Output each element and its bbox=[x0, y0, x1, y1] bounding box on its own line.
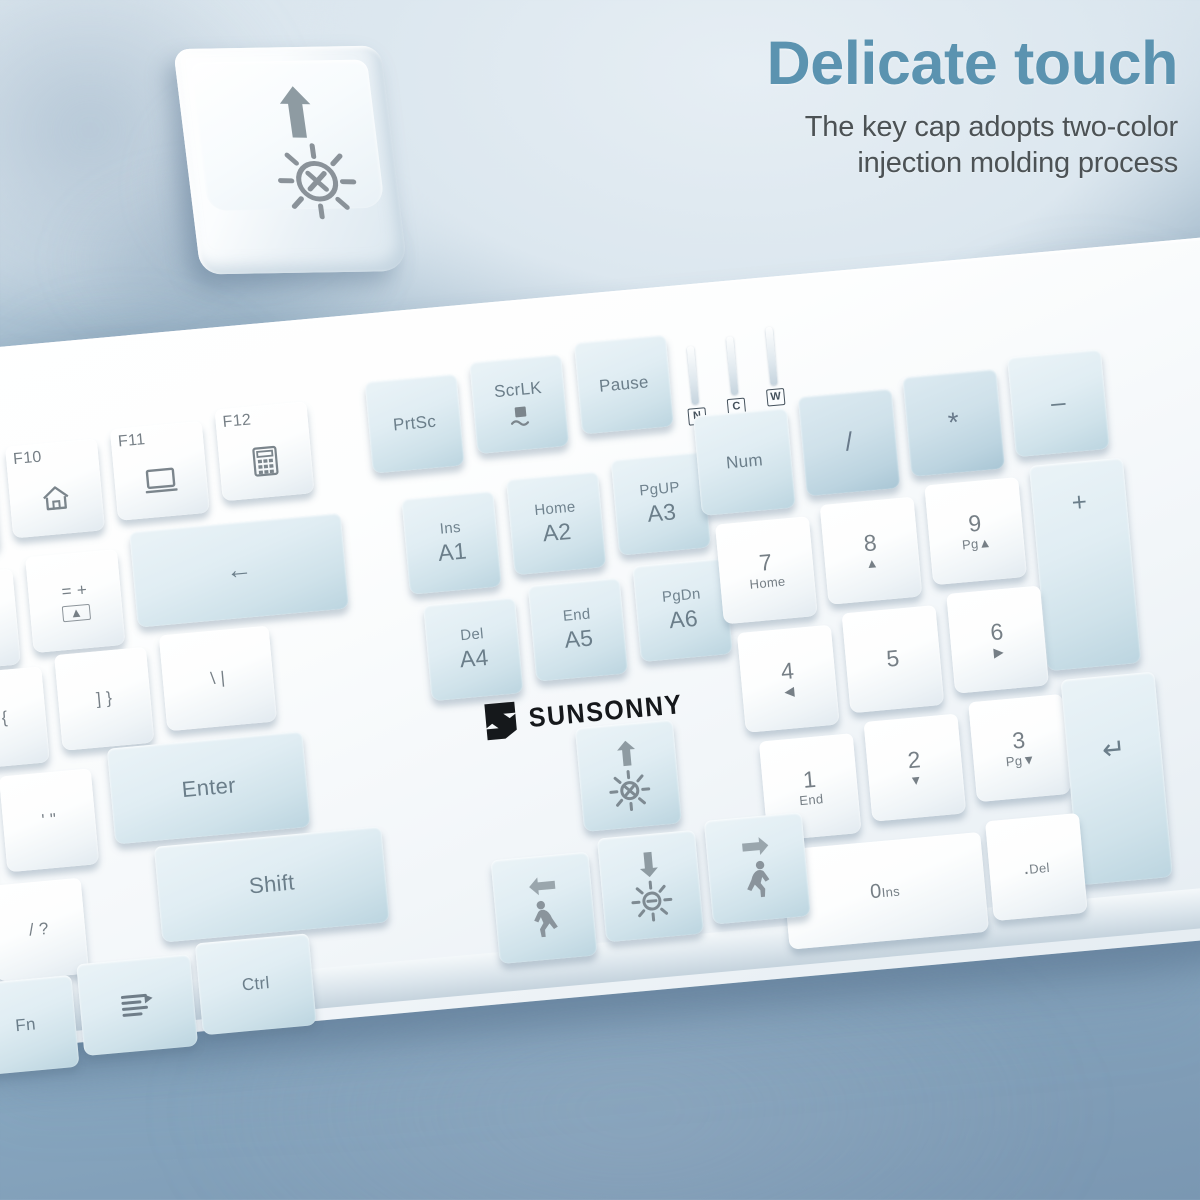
right-bracket-label: ] } bbox=[95, 689, 113, 709]
end-label: End bbox=[562, 606, 591, 625]
numpad-9-sub: Pg▲ bbox=[961, 535, 992, 552]
right-ctrl-key[interactable]: Ctrl bbox=[195, 933, 317, 1035]
delete-code: A4 bbox=[459, 644, 490, 672]
numpad-minus-label: – bbox=[1050, 388, 1067, 418]
left-bracket-label: [ { bbox=[0, 708, 8, 728]
home-nav-code: A2 bbox=[542, 518, 573, 546]
numpad-4-key[interactable]: 4 ◀ bbox=[737, 625, 840, 733]
numpad-5-label: 5 bbox=[885, 646, 900, 673]
backspace-key[interactable]: ← bbox=[129, 513, 349, 628]
numpad-multiply-label: * bbox=[947, 407, 961, 439]
numpad-0-composite: 0Ins bbox=[869, 878, 901, 903]
numpad-3-sub: Pg▼ bbox=[1005, 752, 1036, 769]
arrow-down-icon bbox=[636, 850, 660, 878]
numpad-8-label: 8 bbox=[863, 530, 878, 557]
fn-key[interactable]: Fn bbox=[0, 975, 80, 1076]
numpad-6-label: 6 bbox=[989, 619, 1004, 646]
numpad-9-label: 9 bbox=[967, 511, 982, 538]
numpad-7-key[interactable]: 7 Home bbox=[715, 516, 818, 624]
calculator-icon bbox=[251, 445, 280, 477]
right-shift-label: Shift bbox=[248, 870, 296, 899]
numpad-0-label: 0 bbox=[869, 880, 882, 903]
f11-label: F11 bbox=[117, 431, 146, 451]
arrow-left-icon bbox=[527, 875, 557, 897]
keyboard: F9 F10 F11 F12 bbox=[0, 226, 1200, 1119]
arrow-down-key[interactable] bbox=[597, 830, 704, 942]
insert-code: A1 bbox=[437, 538, 468, 566]
numpad-1-label: 1 bbox=[802, 767, 817, 794]
menu-list-icon bbox=[119, 991, 155, 1020]
backslash-label: \ | bbox=[210, 668, 226, 688]
arrow-up-key[interactable] bbox=[575, 719, 682, 831]
win-lock-led: W bbox=[766, 388, 785, 407]
numpad-8-key[interactable]: 8 ▲ bbox=[820, 497, 923, 605]
f12-key[interactable]: F12 bbox=[215, 401, 315, 501]
numpad-decimal-sub: Del bbox=[1029, 860, 1051, 877]
numpad-plus-label: + bbox=[1070, 487, 1088, 517]
f10-label: F10 bbox=[12, 449, 42, 469]
numpad-8-sub: ▲ bbox=[865, 556, 879, 572]
numpad-divide-key[interactable]: / bbox=[798, 388, 901, 496]
right-bracket-key[interactable]: ] } bbox=[54, 647, 154, 751]
right-ctrl-label: Ctrl bbox=[241, 974, 270, 995]
pause-label: Pause bbox=[598, 373, 649, 396]
pagedown-label: PgDn bbox=[661, 586, 701, 606]
pageup-code: A3 bbox=[646, 499, 677, 527]
fn-label: Fn bbox=[15, 1015, 37, 1036]
backspace-label: ← bbox=[225, 554, 254, 585]
menu-key[interactable] bbox=[76, 954, 198, 1056]
numpad-4-label: 4 bbox=[780, 658, 795, 685]
f11-key[interactable]: F11 bbox=[110, 421, 210, 521]
end-key[interactable]: End A5 bbox=[528, 578, 628, 682]
floating-keycap-legend bbox=[230, 77, 383, 227]
numpad-plus-key[interactable]: + bbox=[1029, 458, 1141, 672]
numpad-6-sub: ▶ bbox=[993, 645, 1005, 660]
runner-left-icon bbox=[527, 898, 562, 941]
f12-label: F12 bbox=[222, 411, 252, 431]
subtitle-line-2: injection molding process bbox=[578, 146, 1178, 181]
subtitle-line-1: The key cap adopts two-color bbox=[578, 110, 1178, 145]
pageup-key[interactable]: PgUP A3 bbox=[611, 452, 711, 556]
pause-key[interactable]: Pause bbox=[574, 334, 674, 434]
backslash-key[interactable]: \ | bbox=[159, 626, 277, 732]
numpad-decimal-composite: .Del bbox=[1022, 855, 1050, 880]
brightness-down-sun-icon bbox=[629, 878, 675, 924]
monitor-icon bbox=[144, 466, 178, 495]
delete-label: Del bbox=[460, 626, 485, 645]
pagedown-code: A6 bbox=[668, 605, 699, 633]
numpad-divide-label: / bbox=[844, 427, 854, 457]
prtsc-key[interactable]: PrtSc bbox=[365, 374, 465, 474]
home-nav-key[interactable]: Home A2 bbox=[506, 471, 606, 575]
numpad-2-key[interactable]: 2 ▼ bbox=[864, 714, 967, 822]
sunsonny-s-mark bbox=[482, 700, 519, 743]
slash-label: / ? bbox=[28, 919, 49, 940]
page-title: Delicate touch bbox=[578, 32, 1178, 94]
numpad-9-key[interactable]: 9 Pg▲ bbox=[924, 477, 1027, 585]
numpad-decimal-key[interactable]: .Del bbox=[985, 813, 1088, 921]
numpad-multiply-key[interactable]: * bbox=[902, 369, 1005, 477]
numpad-3-label: 3 bbox=[1011, 727, 1026, 754]
equals-sub: ▲ bbox=[62, 604, 91, 623]
numpad-5-key[interactable]: 5 bbox=[842, 605, 945, 713]
slash-key[interactable]: / ? bbox=[0, 878, 89, 982]
headline-block: Delicate touch The key cap adopts two-co… bbox=[578, 32, 1178, 181]
enter-key[interactable]: Enter bbox=[107, 731, 311, 844]
arrow-left-key[interactable] bbox=[491, 852, 598, 964]
scrlk-label: ScrLK bbox=[493, 378, 542, 401]
end-code: A5 bbox=[563, 625, 594, 653]
quote-key[interactable]: ' " bbox=[0, 768, 99, 872]
scrlk-key[interactable]: ScrLK bbox=[469, 354, 569, 454]
brightness-up-sun-icon bbox=[269, 139, 366, 223]
numpad-7-sub: Home bbox=[749, 574, 786, 592]
numlock-key[interactable]: Num bbox=[693, 408, 796, 516]
numpad-1-sub: End bbox=[799, 792, 824, 809]
arrow-right-key[interactable] bbox=[704, 812, 811, 924]
quote-label: ' " bbox=[41, 810, 58, 830]
arrow-up-icon bbox=[614, 739, 638, 767]
equals-key[interactable]: = + ▲ bbox=[25, 549, 125, 653]
numpad-0-key[interactable]: 0Ins bbox=[781, 832, 989, 950]
f10-key[interactable]: F10 bbox=[5, 438, 105, 538]
scroll-lock-icon bbox=[505, 404, 535, 428]
left-bracket-key[interactable]: [ { bbox=[0, 666, 50, 770]
pageup-label: PgUP bbox=[639, 480, 681, 500]
numpad-2-sub: ▼ bbox=[909, 773, 923, 789]
equals-label: = + bbox=[61, 580, 88, 601]
runner-right-icon bbox=[741, 859, 776, 902]
delete-key[interactable]: Del A4 bbox=[423, 597, 523, 701]
numpad-3-key[interactable]: 3 Pg▼ bbox=[968, 694, 1071, 802]
pagedown-key[interactable]: PgDn A6 bbox=[632, 558, 732, 662]
insert-label: Ins bbox=[439, 520, 461, 539]
prtsc-label: PrtSc bbox=[392, 412, 437, 435]
numpad-minus-key[interactable]: – bbox=[1007, 349, 1110, 457]
numpad-0-sub: Ins bbox=[881, 883, 901, 900]
page-subtitle: The key cap adopts two-color injection m… bbox=[578, 110, 1178, 181]
floating-keycap bbox=[171, 31, 409, 288]
numpad-7-label: 7 bbox=[758, 550, 773, 577]
insert-key[interactable]: Ins A1 bbox=[401, 491, 501, 595]
home-nav-label: Home bbox=[534, 499, 577, 519]
right-shift-key[interactable]: Shift bbox=[154, 826, 390, 942]
arrow-right-icon bbox=[741, 835, 771, 857]
numpad-2-label: 2 bbox=[907, 747, 922, 774]
numpad-6-key[interactable]: 6 ▶ bbox=[946, 586, 1049, 694]
numlock-label: Num bbox=[725, 451, 763, 473]
numpad-4-sub: ◀ bbox=[784, 684, 796, 699]
home-icon bbox=[40, 484, 72, 513]
numpad-enter-label: ↵ bbox=[1101, 733, 1128, 766]
enter-label: Enter bbox=[181, 773, 237, 802]
brightness-up-sun-icon bbox=[607, 767, 653, 813]
